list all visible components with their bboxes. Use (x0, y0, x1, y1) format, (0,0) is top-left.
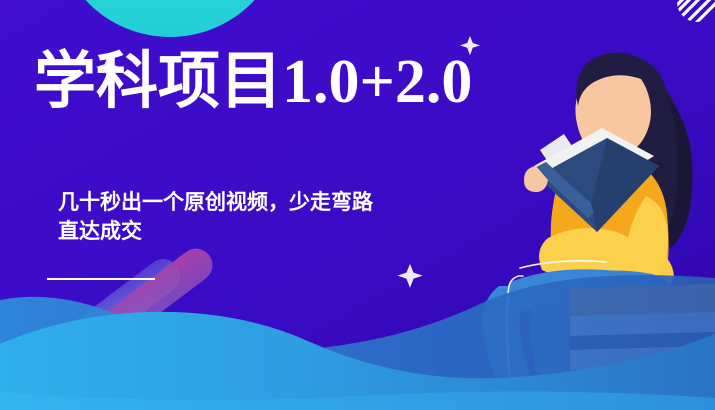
poster-text-layer: 学科项目1.0+2.0 几十秒出一个原创视频，少走弯路 直达成交 (0, 0, 715, 410)
subtitle-line-2: 直达成交 (58, 217, 373, 246)
poster-subtitle: 几十秒出一个原创视频，少走弯路 直达成交 (58, 188, 373, 246)
page-title: 学科项目1.0+2.0 (34, 50, 472, 114)
poster-canvas: 学科项目1.0+2.0 几十秒出一个原创视频，少走弯路 直达成交 (0, 0, 715, 410)
subtitle-line-1: 几十秒出一个原创视频，少走弯路 (58, 191, 373, 214)
title-divider (47, 278, 155, 280)
